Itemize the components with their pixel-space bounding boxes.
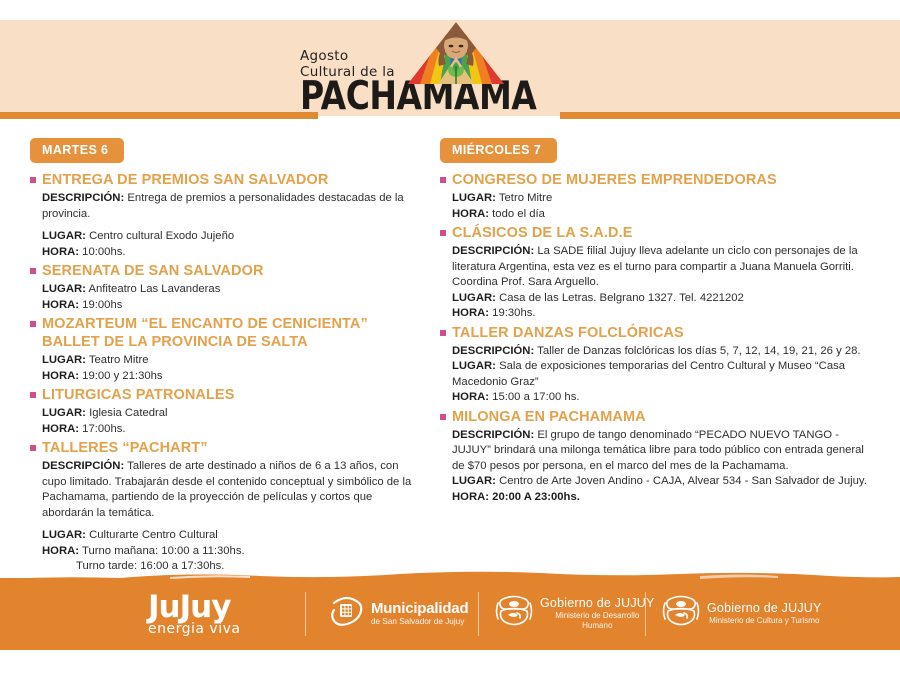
municipalidad-logo: Municipalidad de San Salvador de Jujuy [330,594,468,633]
event-descripcion-line: DESCRIPCIÓN: Entrega de premios a person… [42,191,420,222]
event-title-row: MILONGA EN PACHAMAMA [440,408,872,426]
event-title-row: CLÁSICOS DE LA S.A.D.E [440,224,872,242]
hora-value: 15:00 a 17:00 hs. [492,391,579,403]
municipalidad-line1: Municipalidad [371,600,468,617]
square-bullet-icon [440,414,446,420]
footer-logo-row: JuJuy energia viva [0,578,900,650]
hora-label: HORA: [42,246,79,258]
square-bullet-icon [30,445,36,451]
lugar-value: Iglesia Catedral [89,407,168,419]
descripcion-label: DESCRIPCIÓN: [452,345,534,357]
event-hora-line: HORA: Turno mañana: 10:00 a 11:30hs. [42,544,420,560]
event-lugar-line: LUGAR: Sala de exposiciones temporarias … [452,359,872,390]
event-item: MOZARTEUM “EL ENCANTO DE CENICIENTA” BAL… [30,315,420,384]
square-bullet-icon [440,330,446,336]
lugar-label: LUGAR: [452,192,496,204]
hora-label: HORA: [452,491,489,503]
lugar-value: Anfiteatro Las Lavanderas [88,283,220,295]
event-lugar-line: LUGAR: Iglesia Catedral [42,406,420,422]
jujuy-wordmark: JuJuy [148,592,278,623]
lugar-value: Tetro Mitre [499,192,552,204]
descripcion-value: Taller de Danzas folclóricas los días 5,… [537,345,860,357]
event-hora-line: HORA: 17:00hs. [42,422,420,438]
event-details: DESCRIPCIÓN: Entrega de premios a person… [42,191,420,260]
event-details: DESCRIPCIÓN: Talleres de arte destinado … [42,459,420,575]
square-bullet-icon [30,321,36,327]
square-bullet-icon [30,392,36,398]
hora-label: HORA: [452,208,489,220]
lugar-value: Casa de las Letras. Belgrano 1327. Tel. … [499,292,744,304]
gobierno-cultura-line1: Gobierno de JUJUY [707,601,822,616]
event-hora-line: HORA: 10:00hs. [42,245,420,261]
hora-label: HORA: [42,545,79,557]
event-hora-line: HORA: 19:30hs. [452,306,872,322]
event-details: LUGAR: Tetro Mitre HORA: todo el día [452,191,872,222]
hora-value: 19:00 y 21:30hs [82,370,162,382]
day-badge-miercoles: MIÉRCOLES 7 [440,138,557,163]
event-lugar-line: LUGAR: Centro de Arte Joven Andino - CAJ… [452,474,872,490]
event-lugar-line: LUGAR: Tetro Mitre [452,191,872,207]
poster-footer: JuJuy energia viva [0,570,900,650]
hora-label: HORA: [452,307,489,319]
lugar-label: LUGAR: [452,360,496,372]
hora-value: Turno mañana: 10:00 a 11:30hs. [82,545,245,557]
lugar-value: Sala de exposiciones temporarias del Cen… [452,360,845,388]
event-title: ENTREGA DE PREMIOS SAN SALVADOR [42,171,420,189]
gobierno-desarrollo-line2: Ministerio de Desarrollo [540,611,655,621]
event-details: DESCRIPCIÓN: La SADE filial Jujuy lleva … [452,244,872,322]
event-title-row: TALLERES “PACHART” [30,439,420,457]
square-bullet-icon [440,177,446,183]
lugar-value: Teatro Mitre [89,354,149,366]
hora-value: todo el día [492,208,545,220]
gobierno-jujuy-crest-icon [662,594,700,633]
gobierno-cultura-line2: Ministerio de Cultura y Turismo [707,616,822,626]
pachamama-rainbow-mountain-icon [408,22,504,84]
municipalidad-text: Municipalidad de San Salvador de Jujuy [371,600,468,627]
event-hora-line: HORA: 20:00 A 23:00hs. [452,490,872,506]
hora-label: HORA: [42,370,79,382]
gobierno-desarrollo-text: Gobierno de JUJUY Ministerio de Desarrol… [540,596,655,631]
lugar-label: LUGAR: [452,475,496,487]
event-hora-line: HORA: 19:00 y 21:30hs [42,369,420,385]
event-descripcion-line: DESCRIPCIÓN: El grupo de tango denominad… [452,428,872,475]
day-column-miercoles: MIÉRCOLES 7 CONGRESO DE MUJERES EMPRENDE… [440,138,872,505]
brand-logo-block: Agosto Cultural de la PACHAMAMA [0,20,900,119]
event-lugar-line: LUGAR: Anfiteatro Las Lavanderas [42,282,420,298]
lugar-label: LUGAR: [42,529,86,541]
square-bullet-icon [30,268,36,274]
event-details: DESCRIPCIÓN: El grupo de tango denominad… [452,428,872,506]
hora-value: 20:00 A 23:00hs. [492,491,580,503]
gobierno-desarrollo-line3: Humano [540,621,655,631]
hora-value: 10:00hs. [82,246,125,258]
event-item: CONGRESO DE MUJERES EMPRENDEDORAS LUGAR:… [440,171,872,222]
event-hora-line: HORA: 19:00hs [42,298,420,314]
event-hora-line: HORA: 15:00 a 17:00 hs. [452,390,872,406]
event-item: SERENATA DE SAN SALVADOR LUGAR: Anfiteat… [30,262,420,313]
event-descripcion-line: DESCRIPCIÓN: La SADE filial Jujuy lleva … [452,244,872,291]
event-title: TALLERES “PACHART” [42,439,420,457]
day-column-martes: MARTES 6 ENTREGA DE PREMIOS SAN SALVADOR… [30,138,420,575]
event-hora-line: HORA: todo el día [452,207,872,223]
event-item: TALLER DANZAS FOLCLÓRICAS DESCRIPCIÓN: T… [440,324,872,406]
event-details: DESCRIPCIÓN: Taller de Danzas folclórica… [452,344,872,406]
event-details: LUGAR: Iglesia Catedral HORA: 17:00hs. [42,406,420,437]
descripcion-label: DESCRIPCIÓN: [42,460,124,472]
poster-page: Agosto Cultural de la PACHAMAMA [0,0,900,675]
event-lugar-line: LUGAR: Casa de las Letras. Belgrano 1327… [452,291,872,307]
event-title: TALLER DANZAS FOLCLÓRICAS [452,324,872,342]
gobierno-cultura-logo: Gobierno de JUJUY Ministerio de Cultura … [662,594,822,633]
day-badge-martes: MARTES 6 [30,138,124,163]
footer-divider [645,592,646,636]
hora-value: 19:30hs. [492,307,535,319]
event-lugar-line: LUGAR: Centro cultural Exodo Jujeño [42,229,420,245]
event-title: MOZARTEUM “EL ENCANTO DE CENICIENTA” BAL… [42,315,420,351]
event-item: MILONGA EN PACHAMAMA DESCRIPCIÓN: El gru… [440,408,872,506]
lugar-value: Centro cultural Exodo Jujeño [89,230,234,242]
lugar-label: LUGAR: [42,230,86,242]
hora-value: 17:00hs. [82,423,125,435]
descripcion-label: DESCRIPCIÓN: [452,245,534,257]
hora-label: HORA: [452,391,489,403]
descripcion-label: DESCRIPCIÓN: [452,429,534,441]
event-title-row: SERENATA DE SAN SALVADOR [30,262,420,280]
jujuy-brand-logo: JuJuy energia viva [148,592,278,644]
event-title: LITURGICAS PATRONALES [42,386,420,404]
lugar-label: LUGAR: [452,292,496,304]
event-item: CLÁSICOS DE LA S.A.D.E DESCRIPCIÓN: La S… [440,224,872,322]
municipalidad-building-icon [330,594,364,633]
event-descripcion-line: DESCRIPCIÓN: Taller de Danzas folclórica… [452,344,872,360]
hora-label: HORA: [42,299,79,311]
municipalidad-line2: de San Salvador de Jujuy [371,617,468,627]
event-title: CONGRESO DE MUJERES EMPRENDEDORAS [452,171,872,189]
square-bullet-icon [30,177,36,183]
event-title-row: MOZARTEUM “EL ENCANTO DE CENICIENTA” BAL… [30,315,420,351]
event-descripcion-line: DESCRIPCIÓN: Talleres de arte destinado … [42,459,420,521]
event-title-row: LITURGICAS PATRONALES [30,386,420,404]
descripcion-label: DESCRIPCIÓN: [42,192,124,204]
lugar-label: LUGAR: [42,283,86,295]
event-lugar-line: LUGAR: Teatro Mitre [42,353,420,369]
poster-content: MARTES 6 ENTREGA DE PREMIOS SAN SALVADOR… [0,119,900,566]
hora-label: HORA: [42,423,79,435]
lugar-value: Culturarte Centro Cultural [89,529,218,541]
event-title-row: CONGRESO DE MUJERES EMPRENDEDORAS [440,171,872,189]
lugar-value: Centro de Arte Joven Andino - CAJA, Alve… [499,475,867,487]
event-details: LUGAR: Anfiteatro Las Lavanderas HORA: 1… [42,282,420,313]
event-title: MILONGA EN PACHAMAMA [452,408,872,426]
event-item: ENTREGA DE PREMIOS SAN SALVADOR DESCRIPC… [30,171,420,260]
event-title-row: TALLER DANZAS FOLCLÓRICAS [440,324,872,342]
footer-divider [478,592,479,636]
hora-value: 19:00hs [82,299,122,311]
square-bullet-icon [440,230,446,236]
lugar-label: LUGAR: [42,354,86,366]
event-title-row: ENTREGA DE PREMIOS SAN SALVADOR [30,171,420,189]
gobierno-jujuy-crest-icon [495,594,533,633]
event-details: LUGAR: Teatro Mitre HORA: 19:00 y 21:30h… [42,353,420,384]
event-item: TALLERES “PACHART” DESCRIPCIÓN: Talleres… [30,439,420,575]
gobierno-desarrollo-line1: Gobierno de JUJUY [540,596,655,611]
lugar-label: LUGAR: [42,407,86,419]
event-item: LITURGICAS PATRONALES LUGAR: Iglesia Cat… [30,386,420,437]
event-title: CLÁSICOS DE LA S.A.D.E [452,224,872,242]
footer-divider [305,592,306,636]
gobierno-cultura-text: Gobierno de JUJUY Ministerio de Cultura … [707,601,822,626]
event-title: SERENATA DE SAN SALVADOR [42,262,420,280]
event-lugar-line: LUGAR: Culturarte Centro Cultural [42,528,420,544]
jujuy-tagline: energia viva [148,622,278,637]
gobierno-desarrollo-logo: Gobierno de JUJUY Ministerio de Desarrol… [495,594,655,633]
